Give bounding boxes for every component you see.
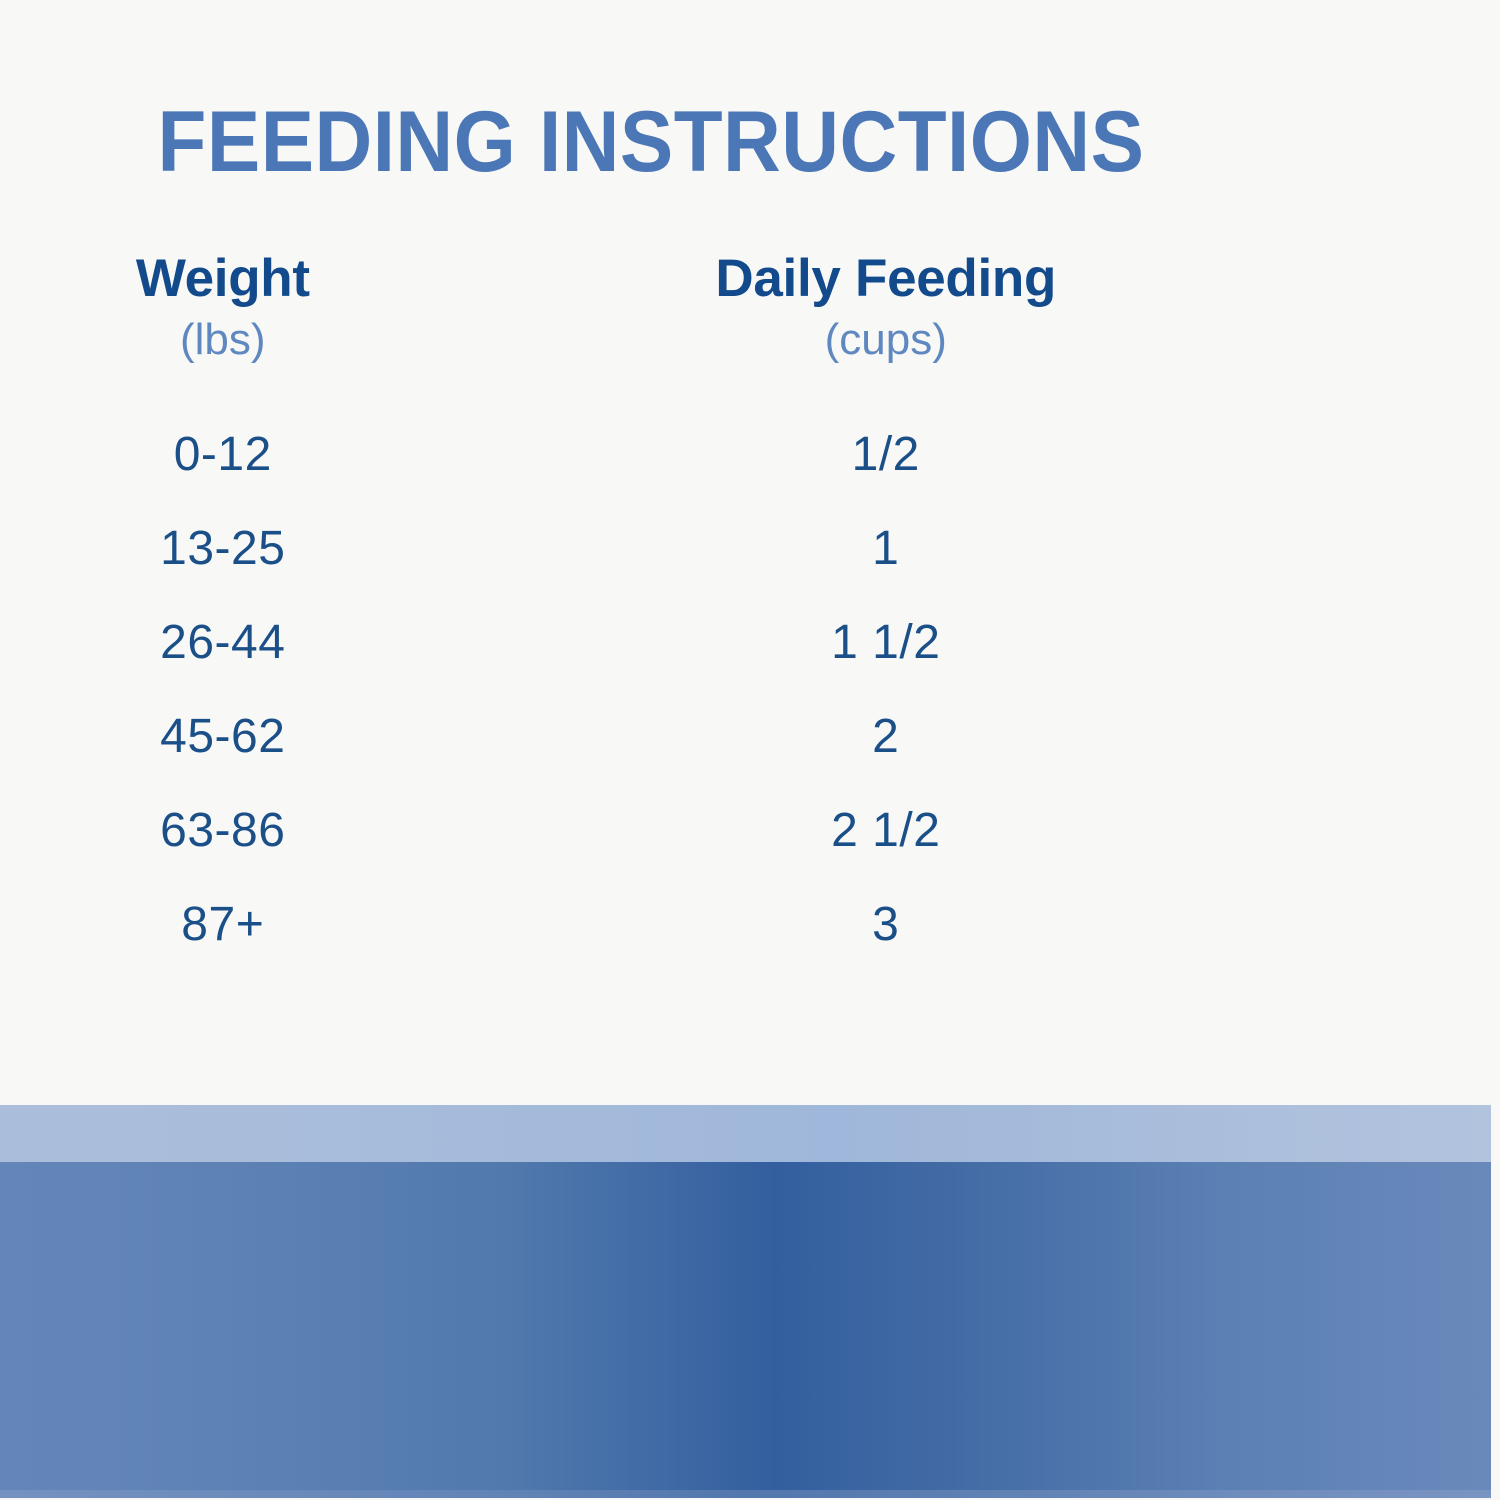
cell-weight: 26-44 [0, 615, 446, 671]
cell-weight: 13-25 [0, 521, 446, 577]
cell-feeding: 1 [446, 521, 1326, 577]
footer-dark-band [0, 1162, 1491, 1498]
feeding-table: Weight (lbs) Daily Feeding (cups) 0-12 1… [0, 248, 1326, 972]
cell-feeding: 3 [446, 897, 1326, 953]
column-header-weight-unit: (lbs) [0, 312, 446, 368]
cell-feeding: 1/2 [446, 427, 1326, 483]
table-row: 87+ 3 [0, 878, 1326, 972]
column-header-weight: Weight (lbs) [0, 248, 446, 368]
page-title: FEEDING INSTRUCTIONS [46, 97, 1257, 187]
cell-weight: 0-12 [0, 427, 446, 483]
table-row: 26-44 1 1/2 [0, 596, 1326, 690]
footer-band-bottom-edge [0, 1490, 1491, 1498]
cell-feeding: 2 1/2 [446, 803, 1326, 859]
table-row: 0-12 1/2 [0, 408, 1326, 502]
column-header-daily-feeding-label: Daily Feeding [446, 248, 1326, 310]
table-body: 0-12 1/2 13-25 1 26-44 1 1/2 45-62 2 63-… [0, 408, 1326, 972]
cell-weight: 63-86 [0, 803, 446, 859]
column-header-daily-feeding-unit: (cups) [446, 312, 1326, 368]
table-row: 63-86 2 1/2 [0, 784, 1326, 878]
table-header-row: Weight (lbs) Daily Feeding (cups) [0, 248, 1326, 368]
cell-weight: 87+ [0, 897, 446, 953]
footer-light-band [0, 1105, 1491, 1162]
table-row: 13-25 1 [0, 502, 1326, 596]
cell-weight: 45-62 [0, 709, 446, 765]
column-header-daily-feeding: Daily Feeding (cups) [446, 248, 1326, 368]
cell-feeding: 1 1/2 [446, 615, 1326, 671]
feeding-instructions-panel: FEEDING INSTRUCTIONS Weight (lbs) Daily … [0, 0, 1500, 1500]
column-header-weight-label: Weight [0, 248, 446, 310]
table-row: 45-62 2 [0, 690, 1326, 784]
cell-feeding: 2 [446, 709, 1326, 765]
